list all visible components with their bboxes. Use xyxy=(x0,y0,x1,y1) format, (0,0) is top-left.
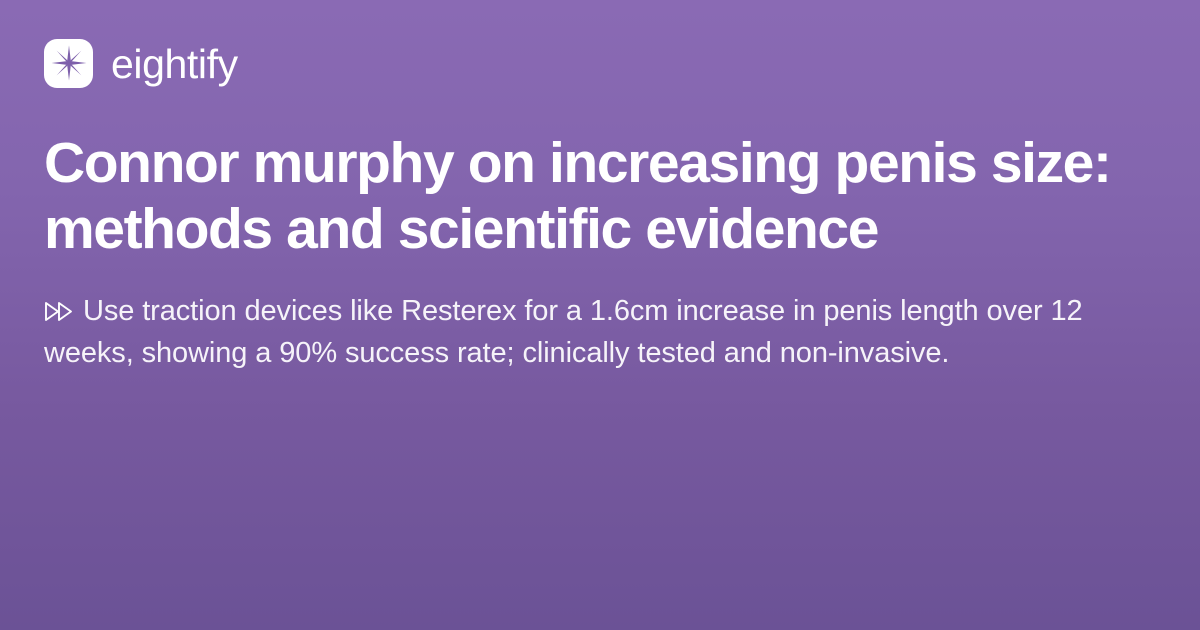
eightify-starburst-icon xyxy=(50,44,88,82)
summary-text: Use traction devices like Resterex for a… xyxy=(44,290,1104,374)
eightify-logo-tile xyxy=(44,39,93,88)
summary-body: Use traction devices like Resterex for a… xyxy=(44,295,1083,369)
summary-card: eightify Connor murphy on increasing pen… xyxy=(0,0,1200,630)
fast-forward-icon xyxy=(44,301,74,322)
brand-logo[interactable]: eightify xyxy=(44,38,1152,88)
brand-wordmark: eightify xyxy=(111,44,238,85)
page-title: Connor murphy on increasing penis size: … xyxy=(44,130,1152,262)
